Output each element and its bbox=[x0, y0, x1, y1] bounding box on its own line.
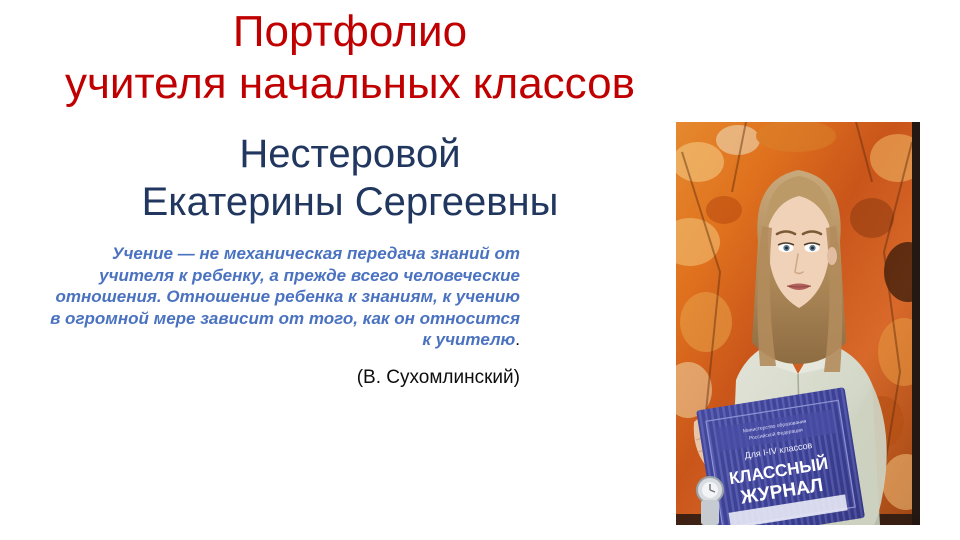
quote-block: Учение — не механическая передача знаний… bbox=[48, 243, 520, 390]
photo-illustration: Министерство образования Российской Феде… bbox=[676, 122, 920, 525]
name-line-surname: Нестеровой bbox=[0, 130, 700, 178]
quote-body: Учение — не механическая передача знаний… bbox=[50, 244, 520, 349]
name-line-given: Екатерины Сергеевны bbox=[0, 178, 700, 226]
page-title: Портфолио учителя начальных классов bbox=[0, 6, 700, 110]
quote-final-period: . bbox=[515, 330, 520, 349]
quote-author: (В. Сухомлинский) bbox=[48, 366, 520, 390]
teacher-photo: Министерство образования Российской Феде… bbox=[676, 122, 920, 525]
teacher-name: Нестеровой Екатерины Сергеевны bbox=[0, 130, 700, 226]
title-line-2: учителя начальных классов bbox=[0, 58, 700, 110]
title-line-1: Портфолио bbox=[0, 6, 700, 58]
quote-text: Учение — не механическая передача знаний… bbox=[48, 243, 520, 351]
slide-canvas: Портфолио учителя начальных классов Нест… bbox=[0, 0, 960, 540]
